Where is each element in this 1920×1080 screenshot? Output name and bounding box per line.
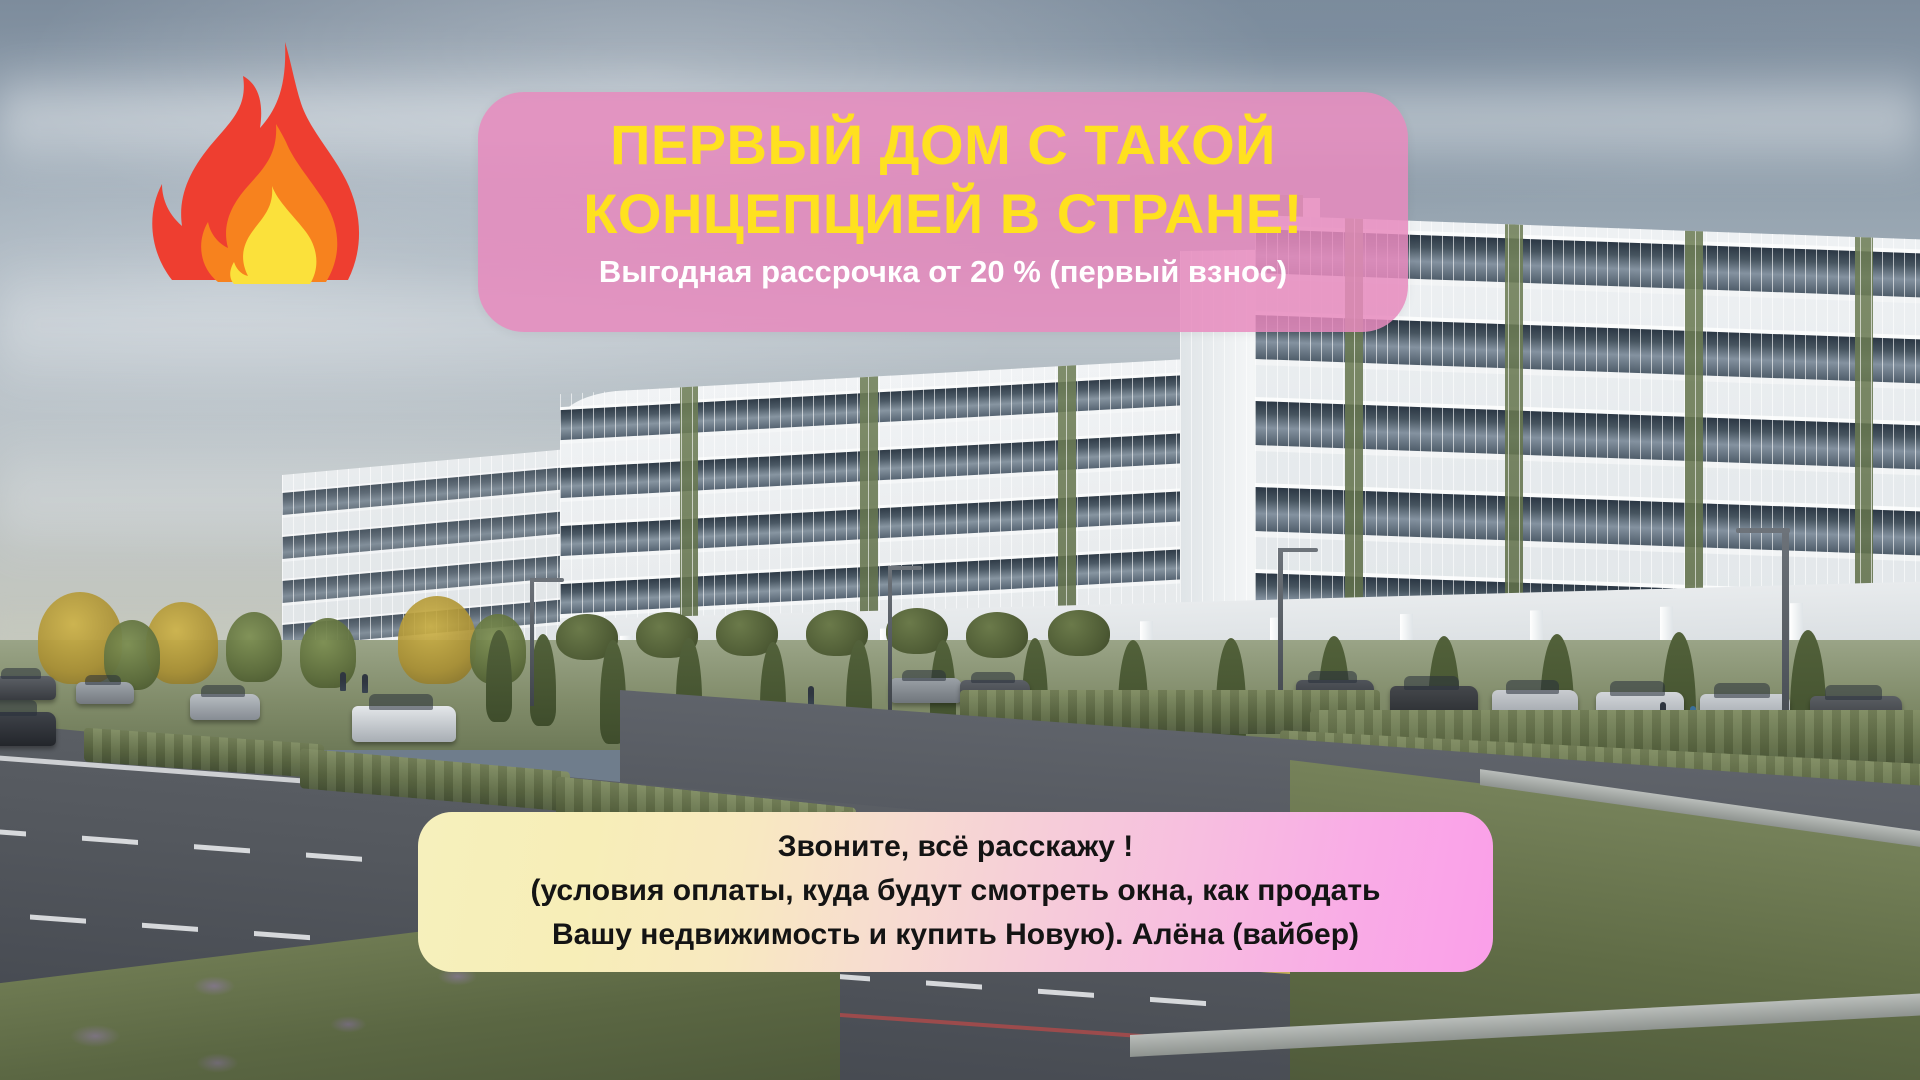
lavender-flowers — [0, 1000, 340, 1080]
pedestrian — [808, 686, 814, 705]
car — [76, 682, 134, 704]
car — [190, 694, 260, 720]
tree — [1048, 610, 1110, 656]
street-lamp-arm — [1736, 528, 1790, 533]
pedestrian — [362, 674, 368, 693]
headline-subtitle: Выгодная рассрочка от 20 % (первый взнос… — [599, 255, 1287, 289]
car — [352, 706, 456, 742]
tree — [300, 618, 356, 688]
contact-banner: Звоните, всё расскажу ! (условия оплаты,… — [418, 812, 1493, 972]
street-lamp-arm — [888, 566, 922, 570]
headline-line-1: ПЕРВЫЙ ДОМ С ТАКОЙ — [610, 110, 1276, 179]
street-lamp — [888, 566, 892, 710]
tree — [398, 596, 476, 684]
car — [890, 678, 962, 703]
pedestrian — [340, 672, 346, 691]
car — [0, 676, 56, 700]
car — [0, 712, 56, 746]
street-lamp-arm — [530, 578, 564, 582]
fire-emoji — [148, 36, 364, 284]
headline-banner: ПЕРВЫЙ ДОМ С ТАКОЙ КОНЦЕПЦИЕЙ В СТРАНЕ! … — [478, 92, 1408, 332]
poster-canvas: ПЕРВЫЙ ДОМ С ТАКОЙ КОНЦЕПЦИЕЙ В СТРАНЕ! … — [0, 0, 1920, 1080]
contact-line-3: Вашу недвижимость и купить Новую). Алёна… — [552, 913, 1359, 957]
headline-line-2: КОНЦЕПЦИЕЙ В СТРАНЕ! — [583, 179, 1303, 248]
street-lamp — [530, 578, 534, 706]
contact-line-1: Звоните, всё расскажу ! — [778, 825, 1134, 869]
street-lamp-arm — [1278, 548, 1318, 552]
contact-line-2: (условия оплаты, куда будут смотреть окн… — [530, 869, 1380, 913]
tree — [966, 612, 1028, 658]
tree — [226, 612, 282, 682]
